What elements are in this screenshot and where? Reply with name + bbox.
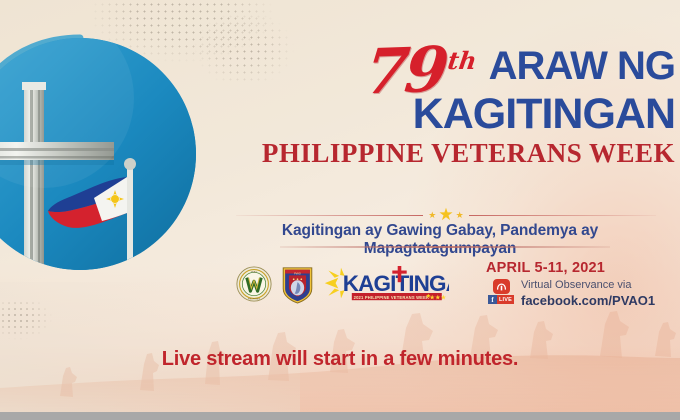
virtual-observance-row: f LIVE Virtual Observance via facebook.c… xyxy=(486,279,655,308)
divider-rule-left xyxy=(236,215,423,216)
livestream-holding-slide: 79 th ARAW NG KAGITINGAN PHILIPPINE VETE… xyxy=(0,0,680,420)
headline-block: 79 th ARAW NG KAGITINGAN PHILIPPINE VETE… xyxy=(205,42,675,169)
live-label: LIVE xyxy=(497,295,514,304)
photo-circle-wrapper xyxy=(0,38,196,270)
event-date: APRIL 5-11, 2021 xyxy=(486,260,655,276)
kagitingan-tagline: 2021 PHILIPPINE VETERANS WEEK xyxy=(354,295,430,300)
svg-text:PVAO: PVAO xyxy=(251,270,257,273)
star-icon-small-left: ★ xyxy=(428,211,436,220)
subtitle: PHILIPPINE VETERANS WEEK xyxy=(205,139,675,169)
theme-text: Kagitingan ay Gawing Gabay, Pandemya ay … xyxy=(205,222,675,258)
kagitingan-wordmark-logo: KAGITINGAN 2021 PHILIPPINE VETERANS WEEK… xyxy=(323,263,449,305)
event-info-block: APRIL 5-11, 2021 f LIVE Virtual Observan… xyxy=(486,260,655,308)
broadcast-antenna-icon xyxy=(495,281,508,292)
svg-text:PVAO: PVAO xyxy=(294,272,301,275)
star-divider: ★ ★ ★ xyxy=(236,207,656,223)
theme-underline xyxy=(280,246,610,248)
svg-text:★★★: ★★★ xyxy=(429,294,446,301)
logo-row: PVAO PHILIPPINES PVAO KA xyxy=(236,263,449,305)
dot-pattern-left xyxy=(0,300,64,345)
observance-label: Virtual Observance via xyxy=(521,279,655,293)
svg-text:PHILIPPINES: PHILIPPINES xyxy=(248,298,261,300)
facebook-icon: f xyxy=(488,295,497,304)
svg-text:KAGITINGAN: KAGITINGAN xyxy=(343,271,449,296)
pvao-seal-icon: PVAO PHILIPPINES xyxy=(236,266,272,302)
star-icon-large: ★ xyxy=(438,206,453,223)
divider-stars: ★ ★ ★ xyxy=(423,207,468,223)
star-icon-small-right: ★ xyxy=(456,211,464,220)
title-line-1: ARAW NG xyxy=(489,48,675,85)
facebook-live-badge[interactable]: f LIVE xyxy=(488,295,514,304)
status-message: Live stream will start in a few minutes. xyxy=(0,348,680,371)
livestream-icons: f LIVE xyxy=(486,279,516,304)
live-broadcast-icon xyxy=(493,279,510,294)
anniversary-number: 79 xyxy=(363,41,448,101)
facebook-url[interactable]: facebook.com/PVAO1 xyxy=(521,293,655,309)
player-bottom-bar[interactable] xyxy=(0,412,680,420)
divider-rule-right xyxy=(469,215,656,216)
observance-text-group: Virtual Observance via facebook.com/PVAO… xyxy=(521,279,655,308)
anniversary-suffix: th xyxy=(446,46,479,75)
veterans-shield-icon: PVAO xyxy=(281,264,314,304)
